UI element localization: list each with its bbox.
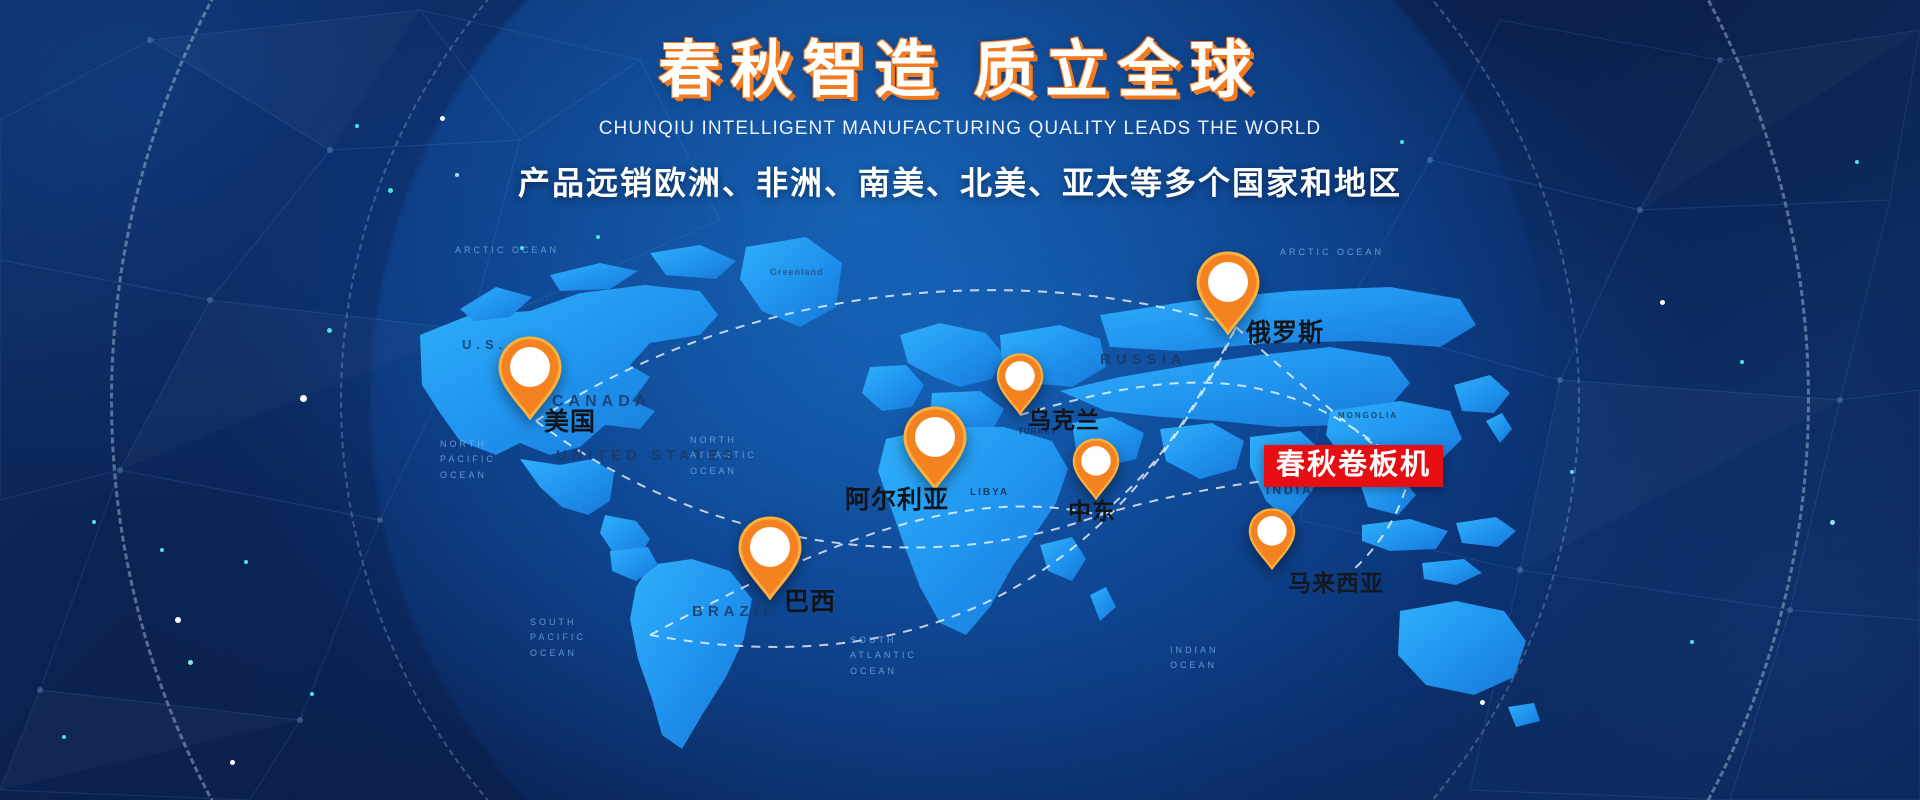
location-pin-icon [1248,508,1296,570]
page-title: 春秋智造 质立全球 [658,40,1261,102]
location-pin-icon [903,406,967,490]
marker-label: 乌克兰 [1028,401,1100,435]
marker-label: 马来西亚 [1288,564,1384,598]
location-pin-icon [1072,438,1120,500]
title-english: CHUNQIU INTELLIGENT MANUFACTURING QUALIT… [0,118,1920,140]
marker-label: 俄罗斯 [1246,313,1324,349]
banner-stage: 春秋智造 质立全球 CHUNQIU INTELLIGENT MANUFACTUR… [0,0,1920,800]
marker-label: 巴西 [784,582,836,618]
marker-label: 阿尔利亚 [845,480,949,516]
headline-block: 春秋智造 质立全球 CHUNQIU INTELLIGENT MANUFACTUR… [0,40,1920,204]
marker-label: 中东 [1068,492,1116,526]
subtitle-chinese: 产品远销欧洲、非洲、南美、北美、亚太等多个国家和地区 [0,158,1920,204]
brand-badge[interactable]: 春秋卷板机 [1264,445,1443,487]
marker-label: 美国 [544,402,596,438]
